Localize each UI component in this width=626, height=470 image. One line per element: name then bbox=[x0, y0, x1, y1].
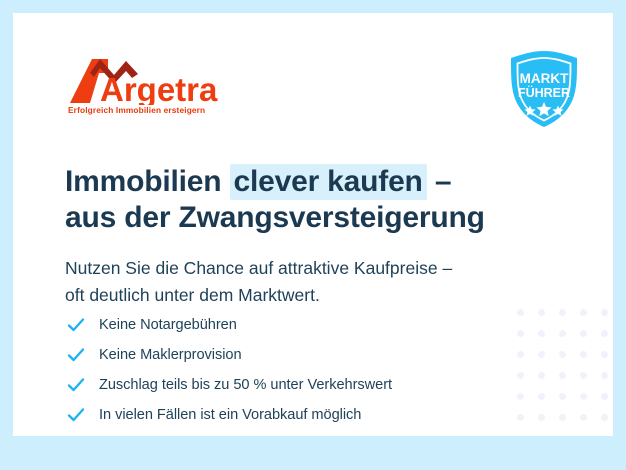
dot bbox=[601, 393, 608, 400]
checklist-item: Zuschlag teils bis zu 50 % unter Verkehr… bbox=[65, 370, 565, 400]
markt-fuehrer-badge: MARKT FÜHRER bbox=[505, 49, 583, 129]
headline-line-1: Immobilien clever kaufen – bbox=[65, 164, 585, 200]
dot bbox=[601, 330, 608, 337]
subheadline-line-2: oft deutlich unter dem Marktwert. bbox=[65, 282, 585, 309]
dot bbox=[601, 351, 608, 358]
banner-card: Argetra Erfolgreich Immobilien ersteiger… bbox=[13, 13, 613, 436]
checklist-item-label: Zuschlag teils bis zu 50 % unter Verkehr… bbox=[99, 377, 392, 393]
argetra-logo: Argetra Erfolgreich Immobilien ersteiger… bbox=[68, 57, 268, 119]
check-icon bbox=[65, 314, 87, 336]
check-icon bbox=[65, 404, 87, 426]
logo-mark-and-wordmark: Argetra bbox=[68, 57, 268, 105]
checklist-item-label: In vielen Fällen ist ein Vorabkauf mögli… bbox=[99, 407, 361, 423]
dot bbox=[601, 372, 608, 379]
dot bbox=[580, 351, 587, 358]
subheadline-line-1: Nutzen Sie die Chance auf attraktive Kau… bbox=[65, 255, 585, 282]
badge-line2: FÜHRER bbox=[518, 85, 570, 100]
headline-highlight: clever kaufen bbox=[230, 164, 427, 200]
badge-line1: MARKT bbox=[520, 71, 569, 86]
dot bbox=[601, 414, 608, 421]
dot bbox=[580, 393, 587, 400]
checklist-item-label: Keine Maklerprovision bbox=[99, 347, 242, 363]
subheadline: Nutzen Sie die Chance auf attraktive Kau… bbox=[65, 255, 585, 309]
dot bbox=[580, 330, 587, 337]
benefits-checklist: Keine NotargebührenKeine Maklerprovision… bbox=[65, 310, 565, 430]
checklist-item: Keine Notargebühren bbox=[65, 310, 565, 340]
checklist-item-label: Keine Notargebühren bbox=[99, 317, 237, 333]
shield-icon: MARKT FÜHRER bbox=[505, 49, 583, 129]
dot bbox=[580, 309, 587, 316]
logo-wordmark: Argetra bbox=[100, 71, 218, 105]
checklist-item: In vielen Fällen ist ein Vorabkauf mögli… bbox=[65, 400, 565, 430]
dot bbox=[580, 372, 587, 379]
logo-tagline: Erfolgreich Immobilien ersteigern bbox=[68, 105, 205, 115]
headline-suffix: – bbox=[427, 165, 452, 198]
checklist-item: Keine Maklerprovision bbox=[65, 340, 565, 370]
check-icon bbox=[65, 374, 87, 396]
promo-banner: Argetra Erfolgreich Immobilien ersteiger… bbox=[0, 0, 626, 470]
dot bbox=[580, 414, 587, 421]
headline-prefix: Immobilien bbox=[65, 165, 230, 198]
dot bbox=[601, 309, 608, 316]
check-icon bbox=[65, 344, 87, 366]
headline: Immobilien clever kaufen – aus der Zwang… bbox=[65, 164, 585, 236]
headline-line-2: aus der Zwangsversteigerung bbox=[65, 200, 585, 236]
